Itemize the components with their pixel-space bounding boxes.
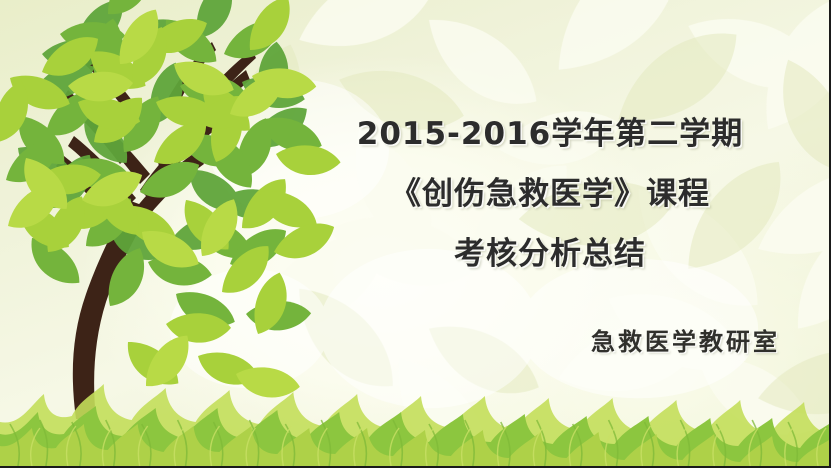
tree-canopy bbox=[0, 0, 343, 408]
title-line-2: 《创伤急救医学》课程 bbox=[300, 164, 800, 224]
title-slide: 2015-2016学年第二学期 《创伤急救医学》课程 考核分析总结 急救医学教研… bbox=[0, 0, 831, 468]
grass-band bbox=[0, 376, 829, 466]
byline-department: 急救医学教研室 bbox=[430, 322, 802, 357]
tree-illustration bbox=[0, 0, 320, 434]
title-line-3: 考核分析总结 bbox=[300, 224, 800, 284]
title-line-1: 2015-2016学年第二学期 bbox=[300, 104, 800, 164]
title-block: 2015-2016学年第二学期 《创伤急救医学》课程 考核分析总结 bbox=[300, 104, 800, 284]
